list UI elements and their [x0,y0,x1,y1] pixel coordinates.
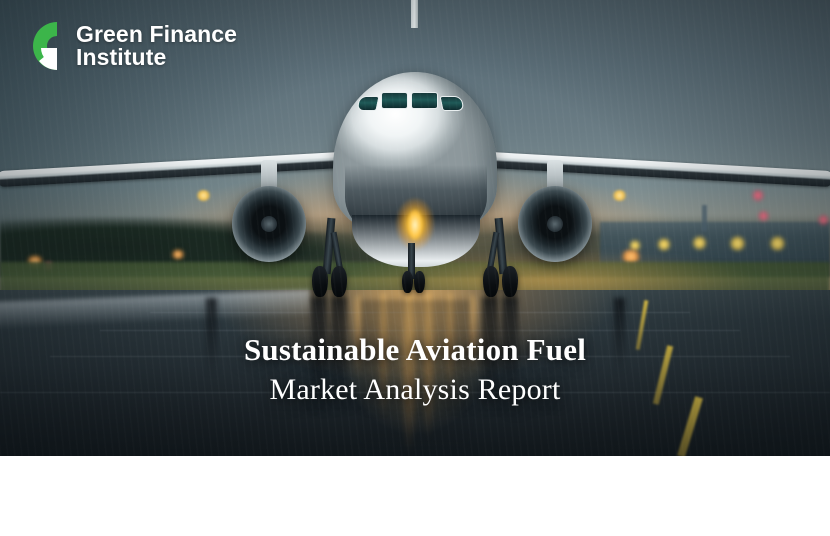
cover-footer: greenfinanceinstitute.co.uk Supported by… [0,456,830,536]
logo-line-2: Institute [76,46,237,69]
logo-line-1: Green Finance [76,23,237,46]
green-finance-institute-mark [33,20,65,72]
logo-wordmark: Green Finance Institute [76,23,237,70]
cover-title-line-2: Market Analysis Report [0,373,830,407]
report-cover-page: Green Finance Institute Sustainable Avia… [0,0,830,536]
cover-title: Sustainable Aviation Fuel Market Analysi… [0,332,830,407]
green-finance-institute-logo: Green Finance Institute [33,20,237,72]
cover-title-line-1: Sustainable Aviation Fuel [0,332,830,368]
cover-hero-image: Green Finance Institute Sustainable Avia… [0,0,830,456]
